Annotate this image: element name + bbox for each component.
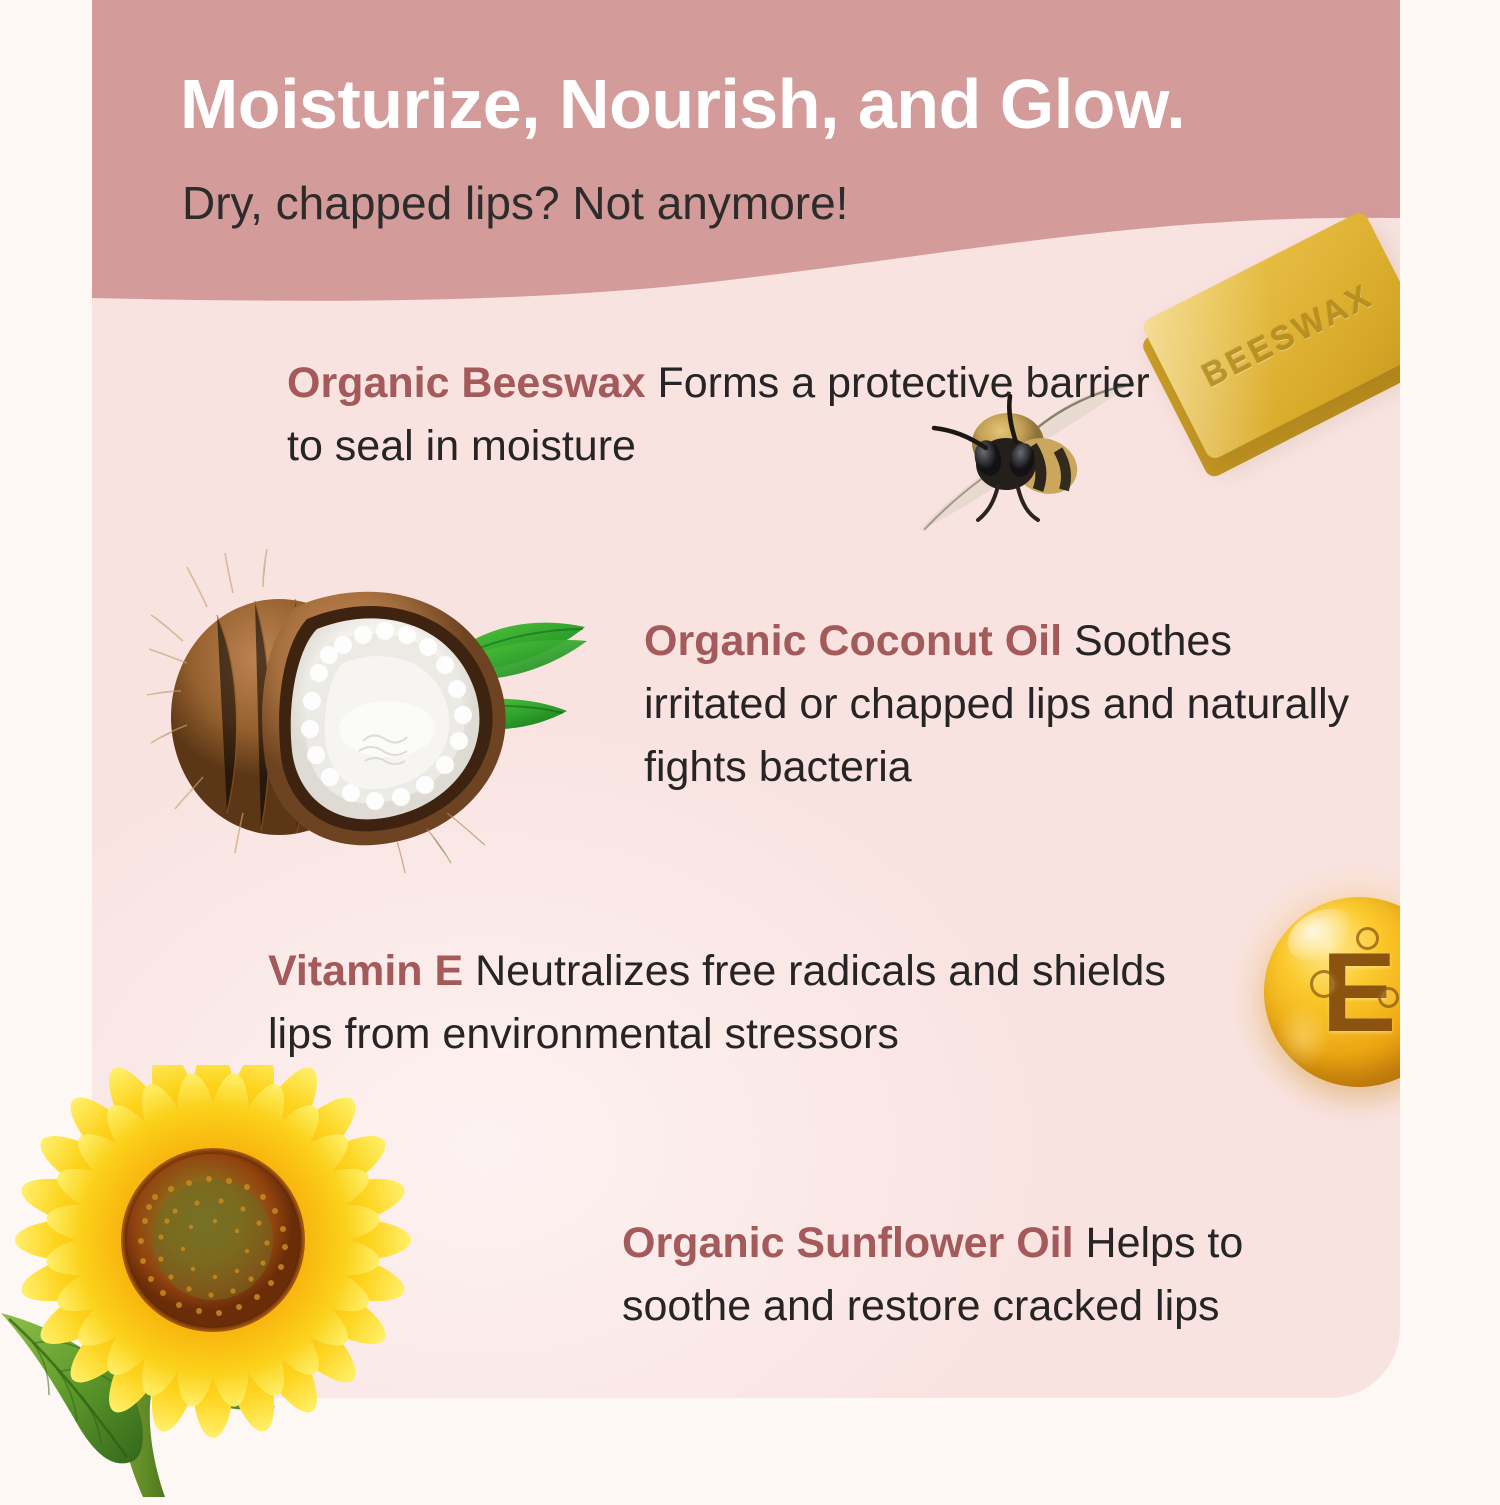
ingredient-text-vitamin-e: Vitamin E Neutralizes free radicals and … <box>268 940 1228 1066</box>
page-title: Moisturize, Nourish, and Glow. <box>180 64 1185 144</box>
ingredient-name-sunflower-oil: Organic Sunflower Oil <box>622 1219 1086 1267</box>
vitamin-e-bubble-3 <box>1378 987 1399 1008</box>
vitamin-e-bubble-1 <box>1356 927 1379 950</box>
ingredient-name-vitamin-e: Vitamin E <box>268 947 475 995</box>
coconut-icon <box>147 545 627 875</box>
ingredient-text-beeswax: Organic Beeswax Forms a protective barri… <box>287 352 1167 478</box>
vitamin-e-bubble-2 <box>1310 970 1338 998</box>
coconut-image <box>147 545 627 875</box>
beeswax-bar-top: BEESWAX <box>1140 210 1400 462</box>
beeswax-emboss-text: BEESWAX <box>1140 210 1400 462</box>
ingredient-text-coconut-oil: Organic Coconut Oil Soothes irritated or… <box>644 610 1374 798</box>
infographic-canvas: Moisturize, Nourish, and Glow. Dry, chap… <box>0 0 1500 1500</box>
coconut-open-half <box>262 592 506 846</box>
ingredient-text-sunflower-oil: Organic Sunflower Oil Helps to soothe an… <box>622 1212 1382 1338</box>
ingredient-name-beeswax: Organic Beeswax <box>287 359 657 407</box>
vitamin-e-droplet-image: E <box>1212 865 1400 1125</box>
sunflower-center-disk <box>121 1148 305 1332</box>
ingredient-name-coconut-oil: Organic Coconut Oil <box>644 617 1074 665</box>
sunflower-icon <box>0 1065 445 1500</box>
sunflower-image <box>0 1065 445 1500</box>
page-subtitle: Dry, chapped lips? Not anymore! <box>182 176 848 230</box>
